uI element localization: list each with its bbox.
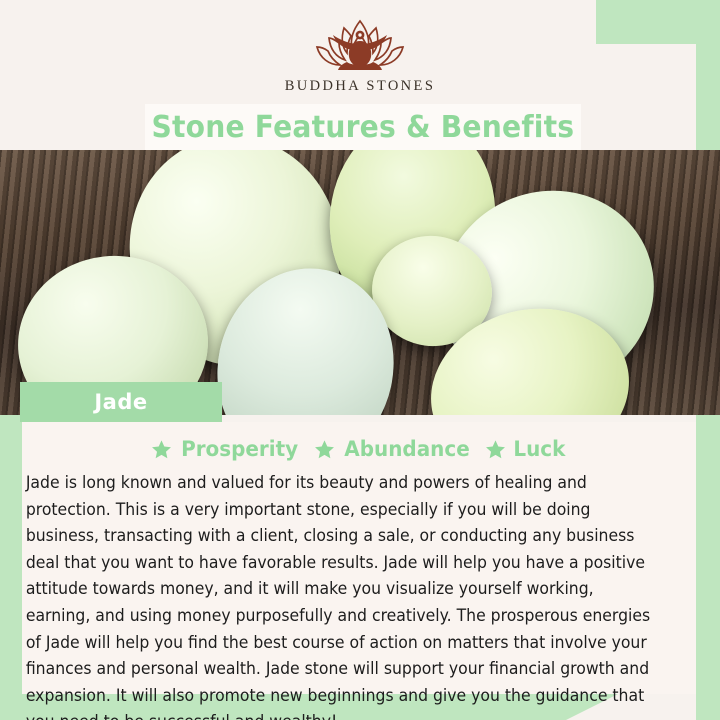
stone-name-label: Jade: [94, 390, 147, 414]
star-icon: [314, 439, 335, 460]
page-title: Stone Features & Benefits: [152, 110, 575, 145]
lotus-meditation-icon: [300, 14, 420, 76]
star-icon: [485, 439, 506, 460]
stone-info-card: BUDDHA STONES Stone Features & Benefits …: [0, 0, 720, 720]
stone-photo: [0, 150, 720, 415]
title-banner: Stone Features & Benefits: [145, 104, 581, 150]
keyword-list: Prosperity Abundance Luck: [22, 432, 696, 466]
keyword-label: Prosperity: [182, 437, 299, 461]
star-icon: [151, 439, 172, 460]
keyword-label: Luck: [513, 437, 565, 461]
stone-description: Jade is long known and valued for its be…: [22, 470, 666, 720]
stone-name-tag: Jade: [20, 382, 222, 422]
description-panel: Prosperity Abundance Luck Jade is long k…: [22, 422, 696, 694]
keyword-item: Abundance: [314, 437, 473, 461]
keyword-item: Luck: [485, 437, 567, 461]
keyword-item: Prosperity: [151, 437, 301, 461]
keyword-label: Abundance: [344, 437, 469, 461]
brand-name: BUDDHA STONES: [285, 78, 436, 95]
brand-logo: BUDDHA STONES: [0, 0, 720, 112]
